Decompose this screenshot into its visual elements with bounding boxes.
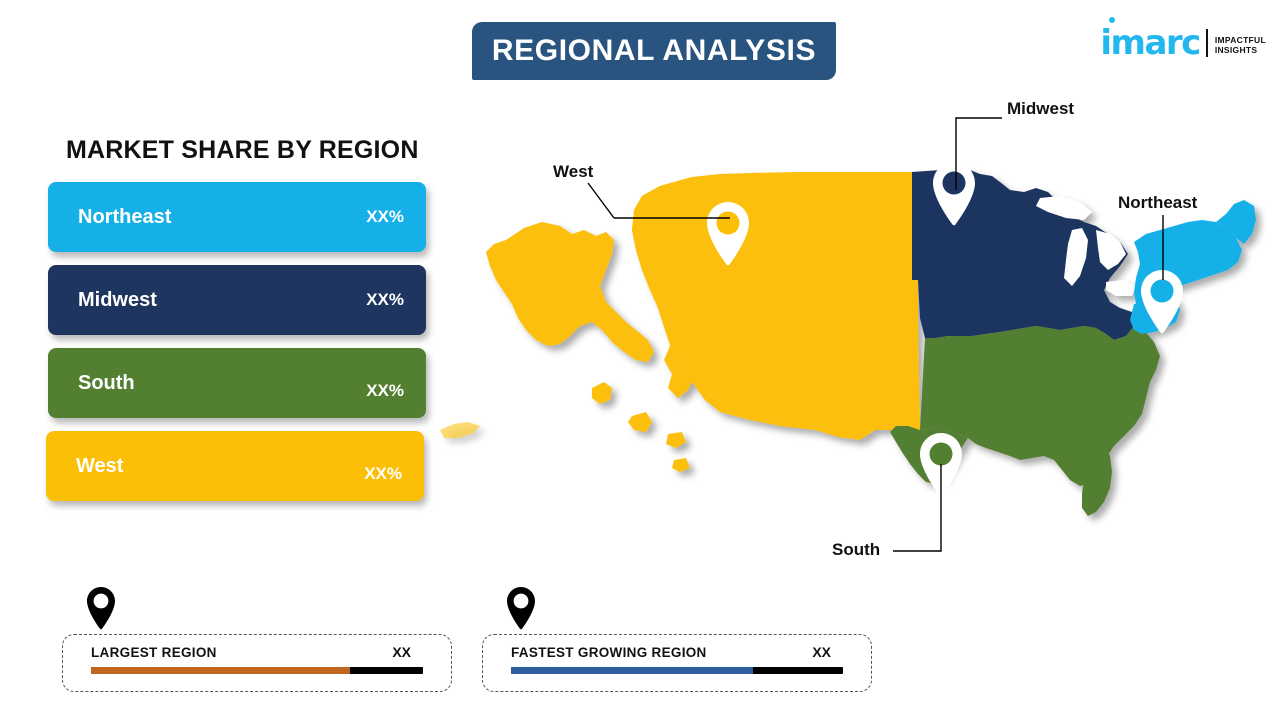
stat-fastest-growing-region: FASTEST GROWING REGION XX — [482, 634, 872, 692]
legend-label: South — [78, 372, 366, 395]
legend-value: XX% — [366, 381, 404, 401]
legend-item-west[interactable]: West XX% — [46, 431, 424, 501]
stat-progress-track — [91, 667, 423, 674]
slide-canvas: REGIONAL ANALYSIS imarc IMPACTFUL INSIGH… — [0, 0, 1280, 720]
logo-wordmark: imarc — [1100, 26, 1199, 60]
stat-box[interactable]: LARGEST REGION XX — [62, 634, 452, 692]
imarc-logo: imarc IMPACTFUL INSIGHTS — [1100, 14, 1266, 60]
stat-value: XX — [812, 644, 849, 660]
map-region-alaska-aleutians — [440, 422, 480, 438]
logo-wordmark-text: imarc — [1100, 23, 1199, 63]
legend-item-midwest[interactable]: Midwest XX% — [48, 265, 426, 335]
stat-largest-region: LARGEST REGION XX — [62, 634, 452, 692]
stat-progress-track — [511, 667, 843, 674]
page-title-banner: REGIONAL ANALYSIS — [472, 22, 836, 80]
market-share-legend: Northeast XX% Midwest XX% South XX% West… — [0, 182, 450, 514]
legend-value: XX% — [366, 290, 404, 310]
logo-divider — [1206, 29, 1208, 57]
stat-value: XX — [392, 644, 429, 660]
map-pin-icon — [504, 586, 538, 635]
legend-item-northeast[interactable]: Northeast XX% — [48, 182, 426, 252]
market-share-heading: MARKET SHARE BY REGION — [66, 136, 419, 165]
legend-value: XX% — [364, 464, 402, 484]
legend-label: West — [76, 455, 364, 478]
stat-box[interactable]: FASTEST GROWING REGION XX — [482, 634, 872, 692]
map-region-hawaii-2 — [628, 412, 652, 432]
great-lakes-erie — [1106, 280, 1136, 296]
map-pin-south[interactable] — [920, 433, 962, 496]
callout-label-northeast: Northeast — [1118, 193, 1197, 213]
legend-label: Midwest — [78, 289, 366, 312]
callout-label-south: South — [832, 540, 880, 560]
map-region-hawaii-3 — [666, 432, 686, 448]
legend-item-south[interactable]: South XX% — [48, 348, 426, 418]
logo-tagline: IMPACTFUL INSIGHTS — [1215, 36, 1266, 60]
callout-label-west: West — [553, 162, 593, 182]
stat-progress-fill — [91, 667, 350, 674]
stat-name: LARGEST REGION — [91, 645, 392, 660]
map-region-hawaii[interactable] — [592, 382, 612, 404]
legend-label: Northeast — [78, 206, 366, 229]
legend-value: XX% — [366, 207, 404, 227]
map-region-alaska[interactable] — [486, 222, 654, 362]
stat-name: FASTEST GROWING REGION — [511, 645, 812, 660]
logo-tagline-line2: INSIGHTS — [1215, 46, 1266, 56]
callout-label-midwest: Midwest — [1007, 99, 1074, 119]
page-title: REGIONAL ANALYSIS — [492, 34, 816, 68]
map-region-hawaii-4 — [672, 458, 690, 472]
map-pin-icon — [84, 586, 118, 635]
stat-progress-fill — [511, 667, 753, 674]
